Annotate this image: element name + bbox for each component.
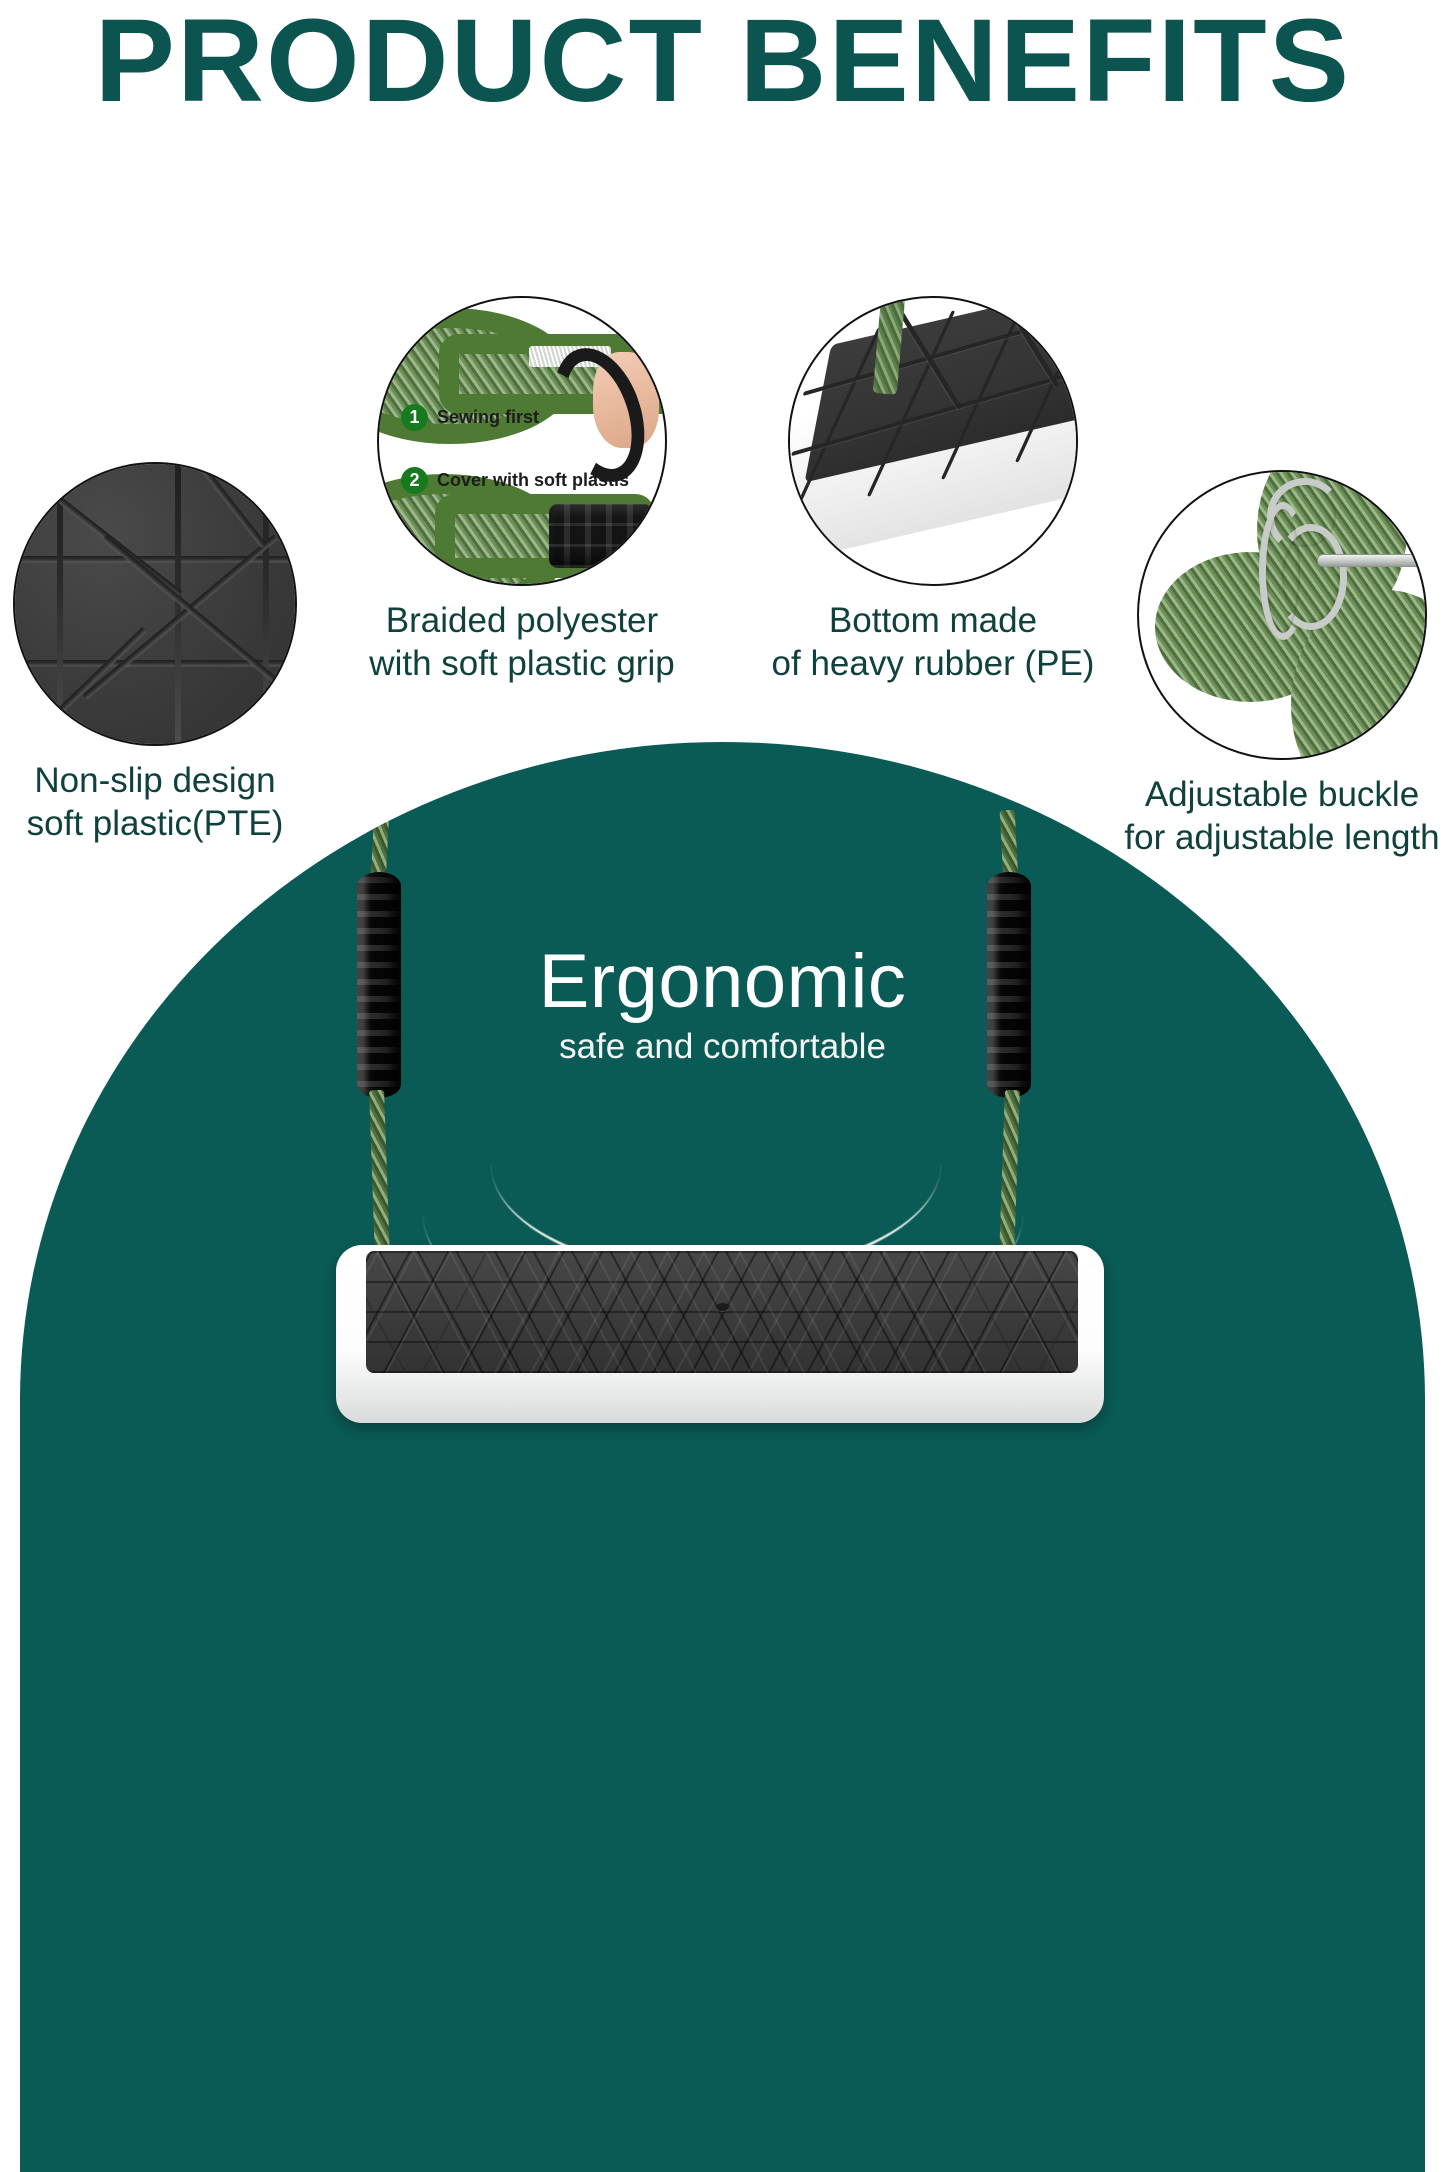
hero-title: Ergonomic: [20, 938, 1425, 1025]
seat-corner-clip: [790, 298, 1076, 584]
feature-callout-non-slip: Non-slip design soft plastic(PTE): [0, 462, 315, 845]
feature-caption-non-slip: Non-slip design soft plastic(PTE): [27, 760, 284, 845]
hero-panel: Ergonomic safe and comfortable: [20, 742, 1425, 2172]
step-number-badge: 2: [401, 467, 428, 494]
seat-texture-highlights: [366, 1251, 1078, 1373]
seat-drain-hole: [716, 1303, 729, 1311]
pad-line-v1: [57, 464, 63, 744]
caption-line-2: soft plastic(PTE): [27, 803, 284, 846]
seat-corner-image: [788, 296, 1078, 586]
assembly-step: 1 Sewing first: [401, 404, 651, 431]
feature-callout-buckle: Adjustable buckle for adjustable length: [1122, 470, 1442, 859]
non-slip-pad-image: [13, 462, 297, 746]
grip-handle-right: [987, 872, 1031, 1098]
feature-callout-braided: 1 Sewing first 2 Cover with soft plastis…: [352, 296, 692, 685]
step-label: Sewing first: [437, 407, 539, 428]
buckle-ring: [1259, 502, 1307, 640]
caption-line-1: Non-slip design: [27, 760, 284, 803]
step-number-badge: 1: [401, 404, 428, 431]
seat-rubber-pad: [366, 1251, 1078, 1373]
buckle-pin: [1317, 554, 1423, 567]
caption-line-1: Braided polyester: [369, 600, 674, 643]
feature-callout-bottom: Bottom made of heavy rubber (PE): [778, 296, 1088, 685]
assembly-steps-list: 1 Sewing first 2 Cover with soft plastis: [401, 404, 651, 530]
rope-left-lower: [369, 1090, 390, 1258]
assembly-step: 2 Cover with soft plastis: [401, 467, 651, 494]
page-title: PRODUCT BENEFITS: [94, 2, 1350, 120]
feature-caption-bottom: Bottom made of heavy rubber (PE): [772, 600, 1095, 685]
grip-handle-left: [357, 872, 401, 1098]
buckle-image: [1137, 470, 1427, 760]
swing-seat: [320, 1237, 1120, 1477]
caption-line-2: of heavy rubber (PE): [772, 643, 1095, 686]
step-label: Cover with soft plastis: [437, 470, 629, 491]
non-slip-pad-clip: [15, 464, 295, 744]
feature-caption-braided: Braided polyester with soft plastic grip: [369, 600, 674, 685]
braided-rope-clip: 1 Sewing first 2 Cover with soft plastis: [379, 298, 665, 584]
buckle-clip: [1139, 472, 1425, 758]
page-header: PRODUCT BENEFITS: [0, 0, 1445, 122]
caption-line-1: Adjustable buckle: [1124, 774, 1439, 817]
caption-line-1: Bottom made: [772, 600, 1095, 643]
caption-line-2: with soft plastic grip: [369, 643, 674, 686]
caption-line-2: for adjustable length: [1124, 817, 1439, 860]
feature-caption-buckle: Adjustable buckle for adjustable length: [1124, 774, 1439, 859]
braided-rope-image: 1 Sewing first 2 Cover with soft plastis: [377, 296, 667, 586]
